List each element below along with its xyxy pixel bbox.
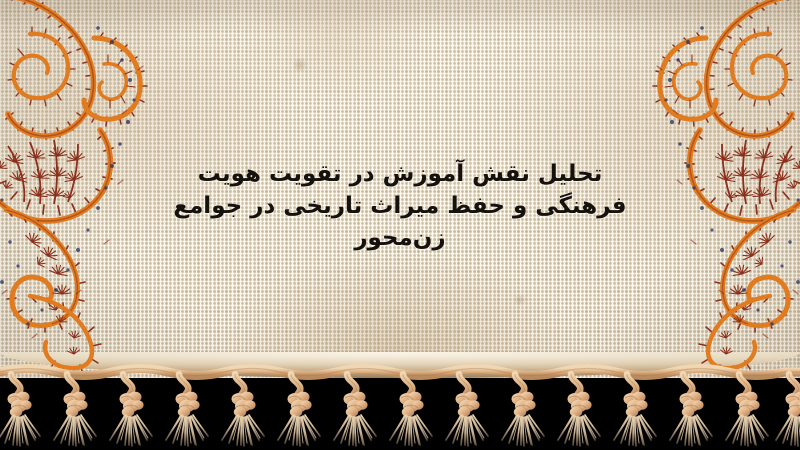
- title-line-2: فرهنگی و حفظ میراث تاریخی در جوامع: [0, 190, 800, 222]
- page-title: تحلیل نقش آموزش در تقویت هویت فرهنگی و ح…: [0, 158, 800, 254]
- title-line-1: تحلیل نقش آموزش در تقویت هویت: [0, 158, 800, 190]
- title-line-3: زن‌محور: [0, 222, 800, 254]
- textile-title-card: تحلیل نقش آموزش در تقویت هویت فرهنگی و ح…: [0, 0, 800, 450]
- knotted-tassel-fringe: [0, 362, 800, 450]
- tassel-row: [0, 374, 800, 446]
